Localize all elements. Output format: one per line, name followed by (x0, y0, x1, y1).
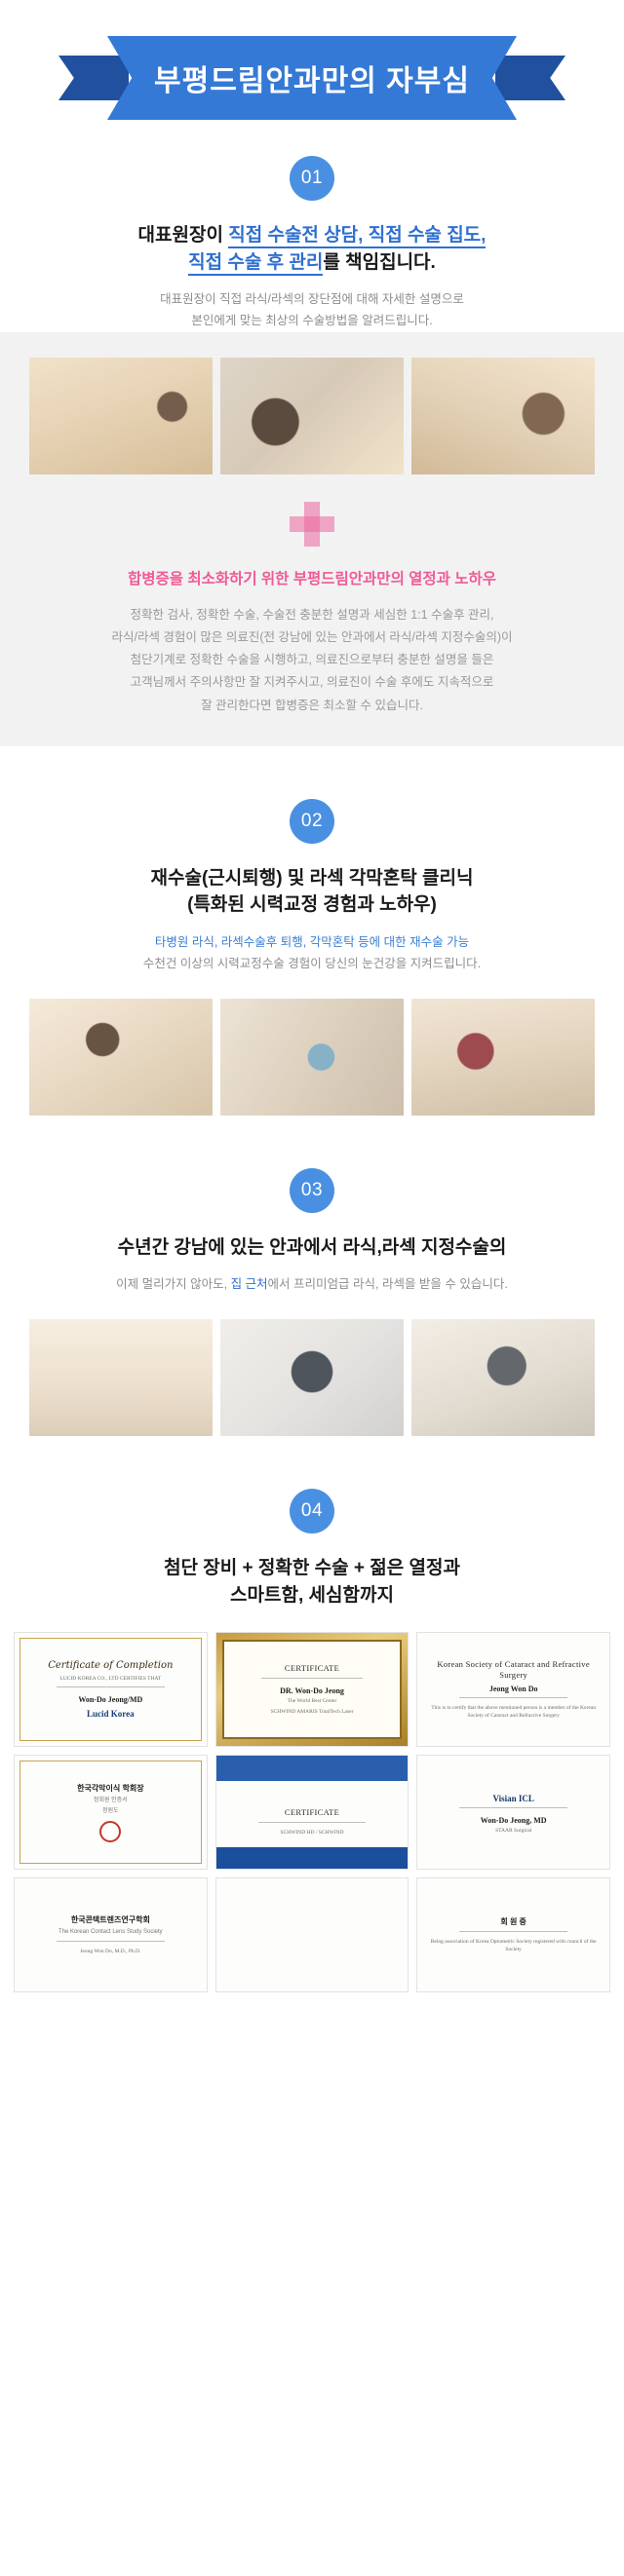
section-01-title-plain1: 대표원장이 (138, 225, 229, 246)
section-01-badge: 01 (290, 156, 334, 201)
section-03: 03 수년간 강남에 있는 안과에서 라식,라섹 지정수술의 이제 멀리가지 않… (0, 1168, 624, 1296)
plus-icon (290, 502, 334, 547)
section-04-title-line2: 스마트함, 세심함까지 (0, 1582, 624, 1610)
cert-lucid-korea-sub: LUCID KOREA CO., LTD CERTIFIES THAT (59, 1676, 161, 1683)
section-04-title: 첨단 장비 + 정확한 수술 + 젊은 열정과 스마트함, 세심함까지 (0, 1555, 624, 1609)
ribbon-shape: 부평드림안과만의 자부심 (58, 36, 565, 120)
page-banner: 부평드림안과만의 자부심 (0, 0, 624, 156)
cert-divider (459, 1807, 567, 1808)
photo-laser-device (220, 1319, 404, 1436)
section-01-title: 대표원장이 직접 수술전 상담, 직접 수술 집도, 직접 수술 후 관리를 책… (0, 222, 624, 276)
photo-trial-frame-fitting (411, 358, 595, 474)
page-title: 부평드림안과만의 자부심 (154, 57, 470, 99)
cert-red-seal-icon (99, 1821, 121, 1842)
cert-korean-contact-lens-recipient: Jeong Won Do, M.D., Ph.D. (80, 1949, 140, 1955)
section-02-desc-gray: 수천건 이상의 시력교정수술 경험이 당신의 눈건강을 지켜드립니다. (0, 954, 624, 975)
cert-ksrs-member: Korean Society of Cataract and Refractiv… (416, 1632, 610, 1747)
cert-ksrs-sub: This is to certify that the above mentio… (423, 1705, 604, 1720)
cert-ksrs-title: Korean Society of Cataract and Refractiv… (423, 1659, 604, 1681)
section-03-desc-suffix: 에서 프리미엄급 라식, 라섹을 받을 수 있습니다. (268, 1277, 508, 1291)
section-04-badge: 04 (290, 1489, 334, 1534)
section-02-desc-blue: 타병원 라식, 라섹수술후 퇴행, 각막혼탁 등에 대한 재수술 가능 (0, 932, 624, 954)
photo-slit-lamp-exam (220, 358, 404, 474)
cert-korean-ophthalmology-sub: 정회원 인증서 (94, 1797, 128, 1804)
cert-schwind-amaris-sub: DR. Won-Do Jeong (280, 1686, 344, 1695)
section-03-description: 이제 멀리가지 않아도, 집 근처에서 프리미엄급 라식, 라섹을 받을 수 있… (0, 1274, 624, 1296)
promo-page: 부평드림안과만의 자부심 01 대표원장이 직접 수술전 상담, 직접 수술 집… (0, 0, 624, 2012)
section-03-title: 수년간 강남에 있는 안과에서 라식,라섹 지정수술의 (0, 1234, 624, 1262)
section-01-title-highlight1: 직접 수술전 상담, 직접 수술 집도, (228, 225, 486, 248)
photo-patient-screening (411, 999, 595, 1116)
cert-divider (459, 1931, 567, 1932)
cert-schwind-hd: CERTIFICATE SCHWIND HD / SCHWIND (215, 1755, 409, 1870)
section-04: 04 첨단 장비 + 정확한 수술 + 젊은 열정과 스마트함, 세심함까지 (0, 1489, 624, 1609)
section-01-description: 대표원장이 직접 라식/라섹의 장단점에 대해 자세한 설명으로 본인에게 맞는… (0, 289, 624, 332)
section-02-description: 타병원 라식, 라섹수술후 퇴행, 각막혼탁 등에 대한 재수술 가능 수천건 … (0, 932, 624, 975)
cert-schwind-amaris-title: CERTIFICATE (285, 1663, 339, 1674)
cert-divider (261, 1678, 363, 1679)
cert-assoc-member: 회 원 증 Being association of Korea Optomet… (416, 1877, 610, 1992)
section-01-photo-strip (0, 358, 624, 474)
cert-divider (459, 1697, 567, 1698)
cert-korean-contact-lens-sub: The Korean Contact Lens Study Society (58, 1928, 163, 1936)
section-02-title-line1: 재수술(근시퇴행) 및 라섹 각막혼탁 클리닉 (0, 865, 624, 892)
cert-schwind-hd-sub: SCHWIND HD / SCHWIND (281, 1830, 344, 1837)
section-03-badge: 03 (290, 1168, 334, 1213)
gray-block-pink-title: 합병증을 최소화하기 위한 부평드림안과만의 열정과 노하우 (0, 568, 624, 590)
section-03-desc-prefix: 이제 멀리가지 않아도, (116, 1277, 230, 1291)
section-01: 01 대표원장이 직접 수술전 상담, 직접 수술 집도, 직접 수술 후 관리… (0, 156, 624, 332)
cert-divider (258, 1822, 367, 1823)
section-03-photo-strip (0, 1319, 624, 1436)
plus-icon-bar-horizontal (290, 516, 334, 532)
cert-lucid-korea-title: Certificate of Completion (48, 1660, 173, 1673)
cert-schwind-amaris-recipient: The World Best Center (288, 1698, 337, 1705)
cert-korean-ophthalmology-title: 한국각막이식 학회장 (77, 1783, 143, 1794)
cert-visian-icl-title: Visian ICL (492, 1794, 533, 1803)
section-02-photo-strip (0, 999, 624, 1116)
ribbon-tail-left (58, 56, 129, 100)
cert-ksrs-recipient: Jeong Won Do (489, 1685, 538, 1693)
gray-desc-line-1: 정확한 검사, 정확한 수술, 수술전 충분한 설명과 세심한 1:1 수술후 … (0, 604, 624, 626)
section-01-desc-line1: 대표원장이 직접 라식/라섹의 장단점에 대해 자세한 설명으로 (0, 289, 624, 311)
certificate-gallery: Certificate of Completion LUCID KOREA CO… (0, 1632, 624, 1992)
section-02: 02 재수술(근시퇴행) 및 라섹 각막혼탁 클리닉 (특화된 시력교정 경험과… (0, 799, 624, 975)
cert-korean-ophthalmology: 한국각막이식 학회장 정회원 인증서 정원도 (14, 1755, 208, 1870)
gray-block-description: 정확한 검사, 정확한 수술, 수술전 충분한 설명과 세심한 1:1 수술후 … (0, 604, 624, 717)
cert-visian-icl-recipient: Won-Do Jeong, MD (481, 1816, 547, 1825)
cert-blue-footer-band (216, 1847, 409, 1869)
section-01-title-plain2: 를 책임집니다. (323, 252, 435, 273)
cert-visian-icl-sub: STAAR Surgical (495, 1828, 531, 1835)
section-03-desc-highlight: 집 근처 (231, 1277, 268, 1291)
gray-desc-line-3: 첨단기계로 정확한 수술을 시행하고, 의료진으로부터 충분한 설명을 들은 (0, 649, 624, 671)
cert-lucid-korea-brand: Lucid Korea (87, 1709, 135, 1719)
photo-vision-test (29, 999, 213, 1116)
cert-bottom-center (215, 1877, 409, 1992)
section-02-badge: 02 (290, 799, 334, 844)
ribbon-body: 부평드림안과만의 자부심 (107, 36, 517, 120)
cert-korean-contact-lens: 한국콘택트렌즈연구학회 The Korean Contact Lens Stud… (14, 1877, 208, 1992)
photo-doctor-consultation (29, 358, 213, 474)
cert-visian-icl: Visian ICL Won-Do Jeong, MD STAAR Surgic… (416, 1755, 610, 1870)
gray-desc-line-4: 고객님께서 주의사항만 잘 지켜주시고, 의료진이 수술 후에도 지속적으로 (0, 671, 624, 694)
cert-schwind-hd-title: CERTIFICATE (285, 1807, 339, 1818)
cert-schwind-amaris-brand: SCHWIND AMARIS TotalTech Laser (271, 1709, 354, 1716)
photo-equipment-exam (220, 999, 404, 1116)
section-01-title-highlight2: 직접 수술 후 관리 (188, 252, 323, 276)
cert-lucid-korea-recipient: Won-Do Jeong/MD (78, 1695, 142, 1704)
cert-divider (57, 1686, 165, 1687)
cert-korean-contact-lens-title: 한국콘택트렌즈연구학회 (71, 1914, 150, 1925)
gray-desc-line-5: 잘 관리한다면 합병증은 최소할 수 있습니다. (0, 695, 624, 717)
section-02-title-line2: (특화된 시력교정 경험과 노하우) (0, 891, 624, 919)
cert-blue-header-band (216, 1756, 409, 1781)
section-03-title-line1: 수년간 강남에 있는 안과에서 라식,라섹 지정수술의 (0, 1234, 624, 1262)
photo-diagnostic-device (411, 1319, 595, 1436)
cert-korean-ophthalmology-recipient: 정원도 (102, 1807, 119, 1815)
cert-gold-inner-panel: CERTIFICATE DR. Won-Do Jeong The World B… (222, 1640, 403, 1739)
section-02-title: 재수술(근시퇴행) 및 라섹 각막혼탁 클리닉 (특화된 시력교정 경험과 노하… (0, 865, 624, 919)
gray-desc-line-2: 라식/라섹 경험이 많은 의료진(전 강남에 있는 안과에서 라식/라섹 지정수… (0, 626, 624, 649)
section-01-desc-line2: 본인에게 맞는 최상의 수술방법을 알려드립니다. (0, 311, 624, 332)
section-04-title-line1: 첨단 장비 + 정확한 수술 + 젊은 열정과 (0, 1555, 624, 1582)
ribbon-tail-right (495, 56, 565, 100)
section-01-gray-block: 합병증을 최소화하기 위한 부평드림안과만의 열정과 노하우 정확한 검사, 정… (0, 332, 624, 746)
cert-schwind-amaris: CERTIFICATE DR. Won-Do Jeong The World B… (215, 1632, 409, 1747)
cert-lucid-korea: Certificate of Completion LUCID KOREA CO… (14, 1632, 208, 1747)
cert-assoc-member-title: 회 원 증 (500, 1916, 526, 1927)
photo-clinic-lobby (29, 1319, 213, 1436)
cert-ornate-border (19, 1638, 202, 1741)
cert-assoc-member-sub: Being association of Korea Optometric So… (423, 1939, 604, 1953)
cert-divider (57, 1941, 165, 1942)
